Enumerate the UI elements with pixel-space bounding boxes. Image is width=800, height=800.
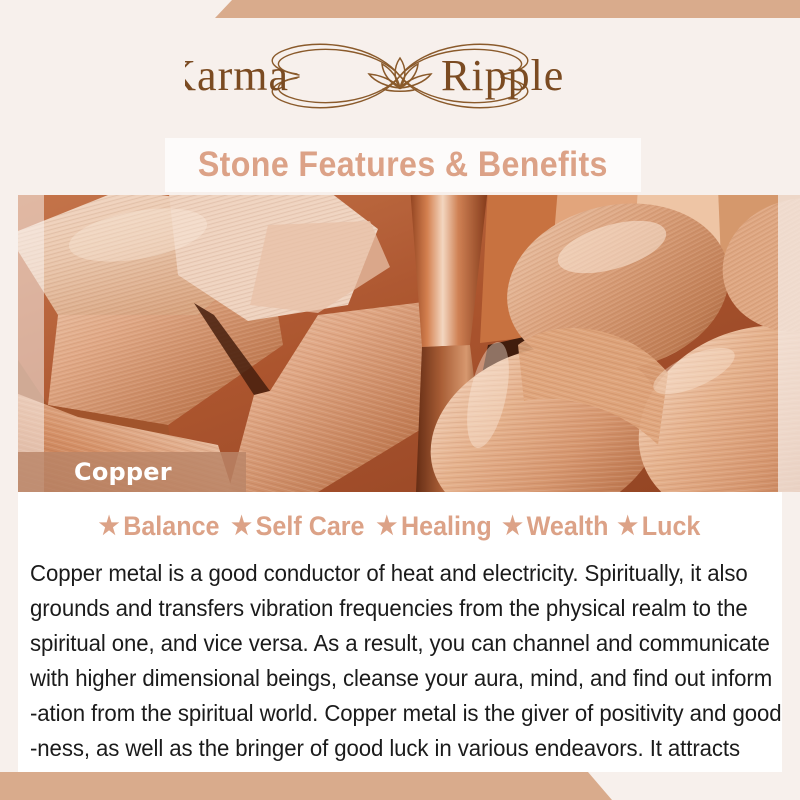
page-title: Stone Features & Benefits — [198, 145, 608, 185]
feature-item: ★ Wealth — [502, 511, 610, 542]
copper-bars-photo — [18, 195, 800, 492]
feature-item: ★ Self Care — [231, 511, 366, 542]
top-accent-bar — [0, 0, 800, 18]
description-line: spiritual one, and vice versa. As a resu… — [30, 626, 737, 661]
title-banner: Stone Features & Benefits — [165, 138, 641, 192]
hero-image — [18, 195, 800, 492]
description-line: -ness, as well as the bringer of good lu… — [30, 731, 737, 766]
brand-name-left: Karma — [185, 51, 289, 100]
feature-item: ★ Balance — [99, 511, 222, 542]
brand-logo-svg: Karma Ripple — [185, 30, 615, 120]
feature-label: Wealth — [526, 511, 608, 542]
stone-name: Copper — [74, 458, 172, 486]
feature-label: Balance — [124, 511, 220, 542]
lotus-icon — [369, 58, 431, 91]
feature-label: Healing — [401, 511, 492, 542]
description-line: Copper metal is a good conductor of heat… — [30, 556, 737, 591]
stone-name-bar: Copper — [18, 452, 246, 492]
star-icon: ★ — [231, 514, 252, 539]
description-line: with higher dimensional beings, cleanse … — [30, 661, 737, 696]
star-icon: ★ — [617, 514, 638, 539]
features-list: ★ Balance ★ Self Care ★ Healing ★ Wealth… — [18, 506, 782, 546]
feature-label: Luck — [642, 511, 701, 542]
description-line: -ation from the spiritual world. Copper … — [30, 696, 737, 731]
star-icon: ★ — [502, 514, 523, 539]
feature-item: ★ Luck — [617, 511, 702, 542]
feature-label: Self Care — [256, 511, 365, 542]
brand-name-right: Ripple — [441, 51, 564, 100]
star-icon: ★ — [376, 514, 397, 539]
description-text: Copper metal is a good conductor of heat… — [30, 556, 778, 800]
star-icon: ★ — [99, 514, 120, 539]
description-line: grounds and transfers vibration frequenc… — [30, 591, 737, 626]
feature-item: ★ Healing — [376, 511, 493, 542]
infographic-card: Karma Ripple Stone Features & Benefits — [0, 0, 800, 800]
brand-logo: Karma Ripple — [0, 30, 800, 120]
